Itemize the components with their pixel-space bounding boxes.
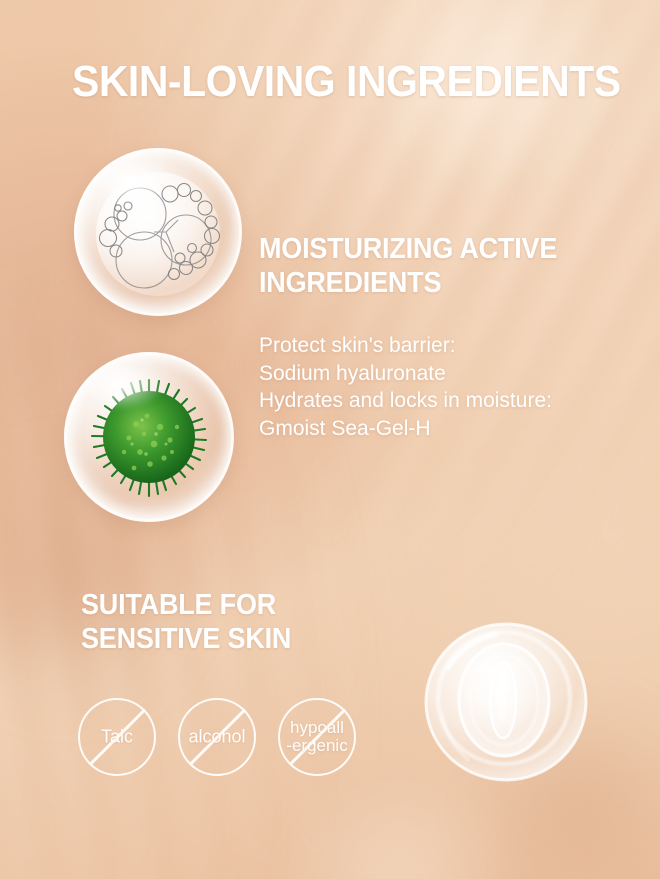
badge-label-line: -ergenic (286, 737, 347, 755)
free-from-badge-talc: Talc (78, 698, 156, 776)
body-line: Protect skin's barrier: (259, 332, 619, 360)
section-heading-sensitive-skin: SUITABLE FOR SENSITIVE SKIN (81, 588, 360, 656)
badge-label: alcohol (188, 728, 245, 747)
free-from-badge-hypoallergenic: hypoall -ergenic (278, 698, 356, 776)
body-line: Hydrates and locks in moisture: (259, 387, 619, 415)
free-from-badge-alcohol: alcohol (178, 698, 256, 776)
droplet-moss-image (64, 352, 234, 522)
product-feature-poster: SKIN-LOVING INGREDIENTS (0, 0, 660, 879)
body-line: Gmoist Sea-Gel-H (259, 415, 619, 443)
body-line: Sodium hyaluronate (259, 360, 619, 388)
badge-label: Talc (101, 728, 133, 747)
section-heading-moisturizing: MOISTURIZING ACTIVE INGREDIENTS (259, 232, 575, 300)
gel-texture-image (424, 618, 588, 782)
badge-label-line: hypoall (286, 719, 347, 737)
green-algae-icon (84, 372, 214, 502)
badge-label: hypoall -ergenic (286, 719, 347, 755)
moisturizing-body-copy: Protect skin's barrier: Sodium hyalurona… (259, 332, 619, 442)
droplet-bubbles-image (74, 148, 242, 316)
page-title: SKIN-LOVING INGREDIENTS (72, 57, 621, 107)
bubble-cluster-icon (74, 148, 242, 316)
